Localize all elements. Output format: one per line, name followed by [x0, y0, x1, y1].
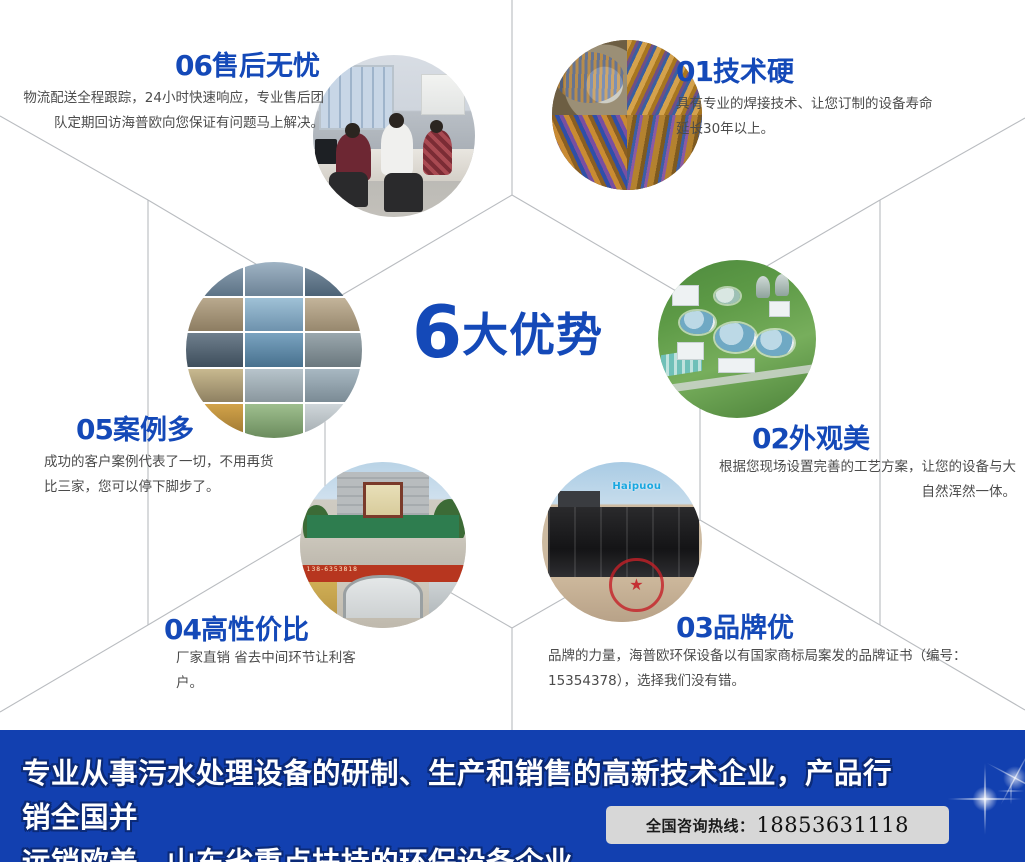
advantage-02-title: 外观美 — [789, 424, 870, 455]
center-suffix: 大优势 — [462, 308, 603, 362]
advantage-05-image — [186, 262, 362, 438]
advantage-06-title: 售后无忧 — [212, 51, 320, 82]
hotline-label: 全国咨询热线： — [646, 815, 755, 836]
advantage-03-heading: 03品牌优 — [676, 606, 794, 645]
hotline-number: 18853631118 — [757, 813, 909, 837]
advantage-02-number: 02 — [752, 422, 789, 455]
factory-gate-photo: 138-6353818 — [300, 462, 466, 628]
office-staff-photo — [313, 55, 475, 217]
advantage-01-title: 技术硬 — [713, 57, 794, 88]
advantage-06-heading: 06售后无忧 — [20, 44, 320, 83]
advantage-04-number: 04 — [164, 613, 201, 646]
advantage-05-heading: 05案例多 — [76, 408, 194, 447]
advantage-03-image: Haipuou ★ — [542, 462, 702, 622]
advantage-03-title: 品牌优 — [713, 613, 794, 644]
advantage-01-body: 具有专业的焊接技术、让您订制的设备寿命延长30年以上。 — [676, 92, 944, 142]
advantage-01-heading: 01技术硬 — [676, 50, 794, 89]
hotline-pill[interactable]: 全国咨询热线： 18853631118 — [606, 806, 949, 844]
sparkle-icon — [988, 768, 1025, 814]
trademark-seal-icon: ★ — [609, 558, 663, 612]
advantage-05-number: 05 — [76, 413, 113, 446]
advantage-01-number: 01 — [676, 55, 713, 88]
advantage-03-body: 品牌的力量，海普欧环保设备以有国家商标局案发的品牌证书（编号：15354378）… — [548, 644, 1008, 694]
banner-line-2: 远销欧美，山东省重点扶持的环保设备企业。 — [22, 841, 902, 862]
center-number: 6 — [412, 290, 462, 374]
advantage-05-title: 案例多 — [113, 415, 194, 446]
brand-watermark: Haipuou — [612, 481, 661, 492]
advantage-03-number: 03 — [676, 611, 713, 644]
advantage-04-body: 厂家直销 省去中间环节让利客户。 — [176, 646, 376, 696]
case-collage-photo — [186, 262, 362, 438]
advantage-02-body: 根据您现场设置完善的工艺方案，让您的设备与大自然浑然一体。 — [710, 455, 1016, 505]
advantage-06-body: 物流配送全程跟踪，24小时快速响应，专业售后团队定期回访海普欧向您保证有问题马上… — [12, 86, 324, 136]
black-equipment-tanks-photo: Haipuou ★ — [542, 462, 702, 622]
advantage-05-body: 成功的客户案例代表了一切，不用再货比三家，您可以停下脚步了。 — [44, 450, 280, 500]
advantage-04-heading: 04高性价比 — [164, 608, 309, 647]
center-title: 6大优势 — [412, 296, 603, 368]
advantage-06-image — [313, 55, 475, 217]
aerial-treatment-plant-photo — [658, 260, 816, 418]
advantage-04-image: 138-6353818 — [300, 462, 466, 628]
advantage-06-number: 06 — [175, 49, 212, 82]
advantage-02-image — [658, 260, 816, 418]
advantage-02-heading: 02外观美 — [752, 417, 870, 456]
six-advantages-infographic: 06售后无忧 物流配送全程跟踪，24小时快速响应，专业售后团队定期回访海普欧向您… — [0, 0, 1025, 862]
advantage-04-title: 高性价比 — [201, 615, 309, 646]
